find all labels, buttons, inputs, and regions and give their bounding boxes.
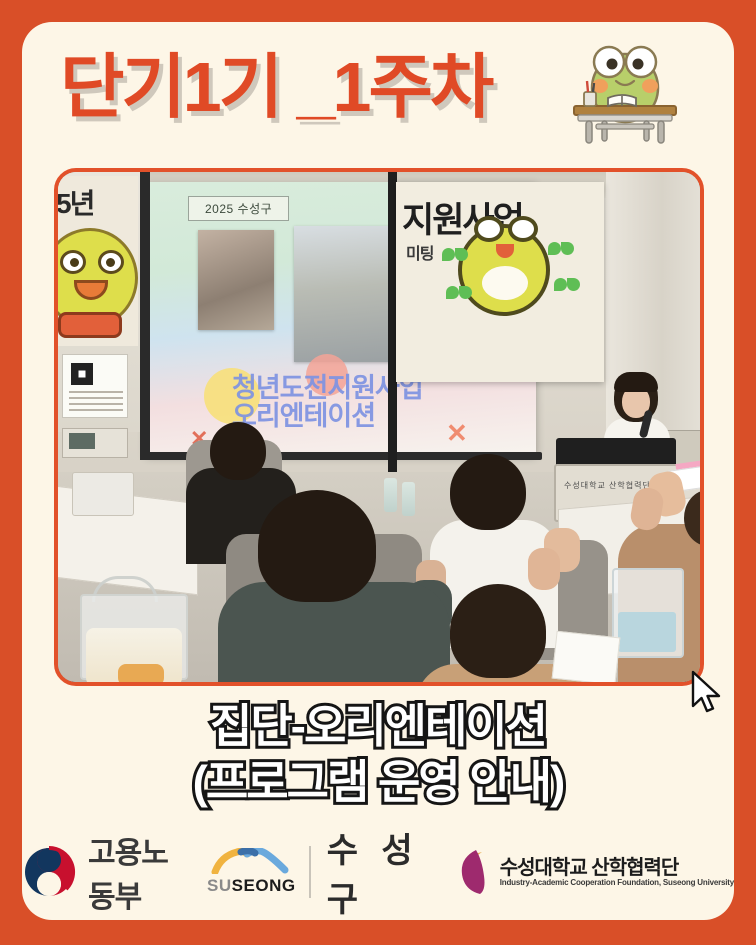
clover-icon [446, 286, 472, 312]
water-bottle [402, 482, 415, 516]
banner-frog-eye-left [474, 216, 504, 242]
person-head [450, 584, 546, 678]
duck-bow [58, 312, 122, 338]
clover-icon [554, 278, 580, 304]
notice-text-lines [69, 391, 123, 413]
wall-divider [140, 172, 150, 460]
poster-root: 단기1기 _1주차 [0, 0, 756, 945]
page-title: 단기1기 _1주차 [60, 52, 491, 122]
duck-poster: 5년 [58, 176, 138, 346]
mouse-cursor-icon [690, 670, 724, 716]
logo-divider [309, 846, 311, 898]
paper-sheet [552, 631, 621, 682]
duck-pupil-right [106, 258, 115, 267]
banner-frog-belly [482, 266, 528, 300]
suseong-su: SU [207, 876, 232, 895]
slide-title: 청년도전지원사업 오리엔테이션 [232, 374, 532, 431]
banner-frog-eye-right [508, 216, 538, 242]
wall-poster-text: 5년 [58, 182, 93, 222]
ministry-logo: 고용노동부 [22, 828, 185, 916]
panel-display [69, 433, 95, 449]
crate-contents [618, 612, 676, 652]
frog-studying-at-desk-icon [560, 36, 690, 148]
water-bottle [384, 478, 397, 512]
podium-label: 수성대학교 산학협력단 [564, 480, 651, 491]
banner-subtitle: 미팅 [406, 240, 433, 264]
person-head [258, 490, 376, 602]
clapping-hand [528, 548, 560, 590]
caption-line-1: 집단-오리엔테이션 [22, 698, 734, 754]
university-mark-icon [452, 846, 494, 898]
district-label: 수 성 구 [327, 823, 448, 921]
presenter-hair [614, 372, 658, 392]
slide-label: 2025 수성구 [188, 196, 289, 221]
suseong-seong: SEONG [232, 876, 296, 895]
caption-block: 집단-오리엔테이션 (프로그램 운영 안내) [22, 698, 734, 810]
poster-header: 단기1기 _1주차 [22, 22, 734, 152]
person-head [450, 454, 526, 530]
person-head [210, 422, 266, 480]
snack-item [118, 664, 164, 682]
event-photo: 2025 수성구 ✕ ✕ 청년도전지원사업 오리엔테이션 [54, 168, 704, 686]
slide-photo-1 [198, 230, 274, 330]
poster-card: 단기1기 _1주차 [22, 22, 734, 920]
footer-logos: 고용노동부 SUSEONG 수 성 구 [22, 832, 734, 912]
wall-control-panel [62, 428, 128, 458]
university-name-kr: 수성대학교 산학협력단 [500, 857, 734, 879]
clover-icon [548, 242, 574, 268]
suseong-wordmark: SUSEONG [207, 876, 293, 896]
university-text: 수성대학교 산학협력단 Industry-Academic Cooperatio… [500, 857, 734, 888]
suseong-brand-logo: SUSEONG [207, 848, 293, 896]
duck-pupil-left [70, 258, 79, 267]
printer [72, 472, 134, 516]
university-name-en: Industry-Academic Cooperation Foundation… [500, 879, 734, 888]
event-banner: 지원사업 미팅 [396, 182, 604, 382]
left-wall: 5년 [58, 172, 146, 432]
suseong-mark-icon [207, 848, 293, 874]
clover-icon [442, 248, 468, 274]
caption-line-2: (프로그램 운영 안내) [22, 754, 734, 810]
taegeuk-icon [22, 845, 76, 899]
university-logo: 수성대학교 산학협력단 Industry-Academic Cooperatio… [452, 846, 734, 898]
event-photo-content: 2025 수성구 ✕ ✕ 청년도전지원사업 오리엔테이션 [58, 172, 700, 682]
ministry-label: 고용노동부 [88, 828, 185, 916]
qr-code-icon [71, 363, 93, 385]
wall-notice [62, 354, 128, 418]
